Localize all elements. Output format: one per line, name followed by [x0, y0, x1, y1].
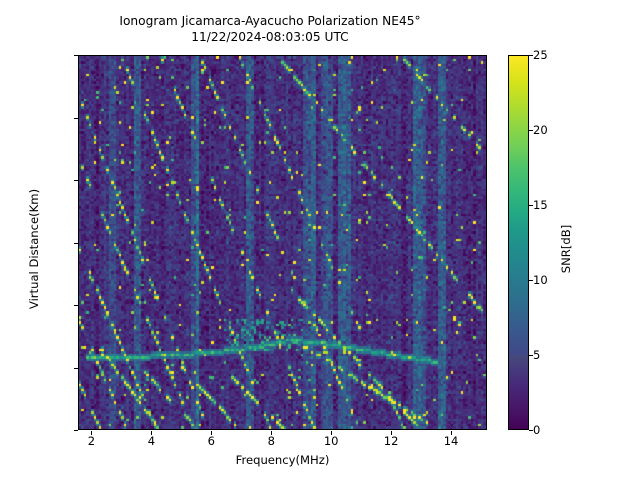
chart-title-line-1: Ionogram Jicamarca-Ayacucho Polarization…: [119, 14, 420, 28]
ionogram-heatmap: [79, 56, 487, 430]
x-tick-label: 2: [88, 434, 95, 448]
x-tick-label: 8: [268, 434, 275, 448]
colorbar-label: SNR[dB]: [559, 139, 573, 359]
y-tick-mark: [74, 305, 78, 306]
colorbar-tick-label: 15: [533, 198, 548, 212]
y-tick-mark: [74, 430, 78, 431]
colorbar: [508, 55, 529, 430]
y-tick-mark: [74, 55, 78, 56]
colorbar-tick-label: 5: [533, 348, 540, 362]
y-tick-mark: [74, 368, 78, 369]
colorbar-tick-label: 20: [533, 123, 548, 137]
y-tick-mark: [74, 180, 78, 181]
x-tick-label: 4: [148, 434, 155, 448]
ionogram-figure: Ionogram Jicamarca-Ayacucho Polarization…: [0, 0, 640, 480]
y-tick-mark: [74, 118, 78, 119]
y-axis-label: Virtual Distance(Km): [27, 139, 41, 359]
y-tick-mark: [74, 243, 78, 244]
x-axis-label: Frequency(MHz): [78, 453, 487, 467]
colorbar-tick-label: 0: [533, 423, 540, 437]
x-tick-label: 6: [208, 434, 215, 448]
x-tick-label: 12: [384, 434, 399, 448]
x-tick-label: 14: [444, 434, 459, 448]
colorbar-tick-label: 10: [533, 273, 548, 287]
chart-title-line-2: 11/22/2024-08:03:05 UTC: [0, 30, 540, 46]
x-tick-label: 10: [324, 434, 339, 448]
chart-title: Ionogram Jicamarca-Ayacucho Polarization…: [0, 14, 540, 45]
heatmap-axes: [78, 55, 487, 430]
colorbar-tick-label: 25: [533, 48, 548, 62]
